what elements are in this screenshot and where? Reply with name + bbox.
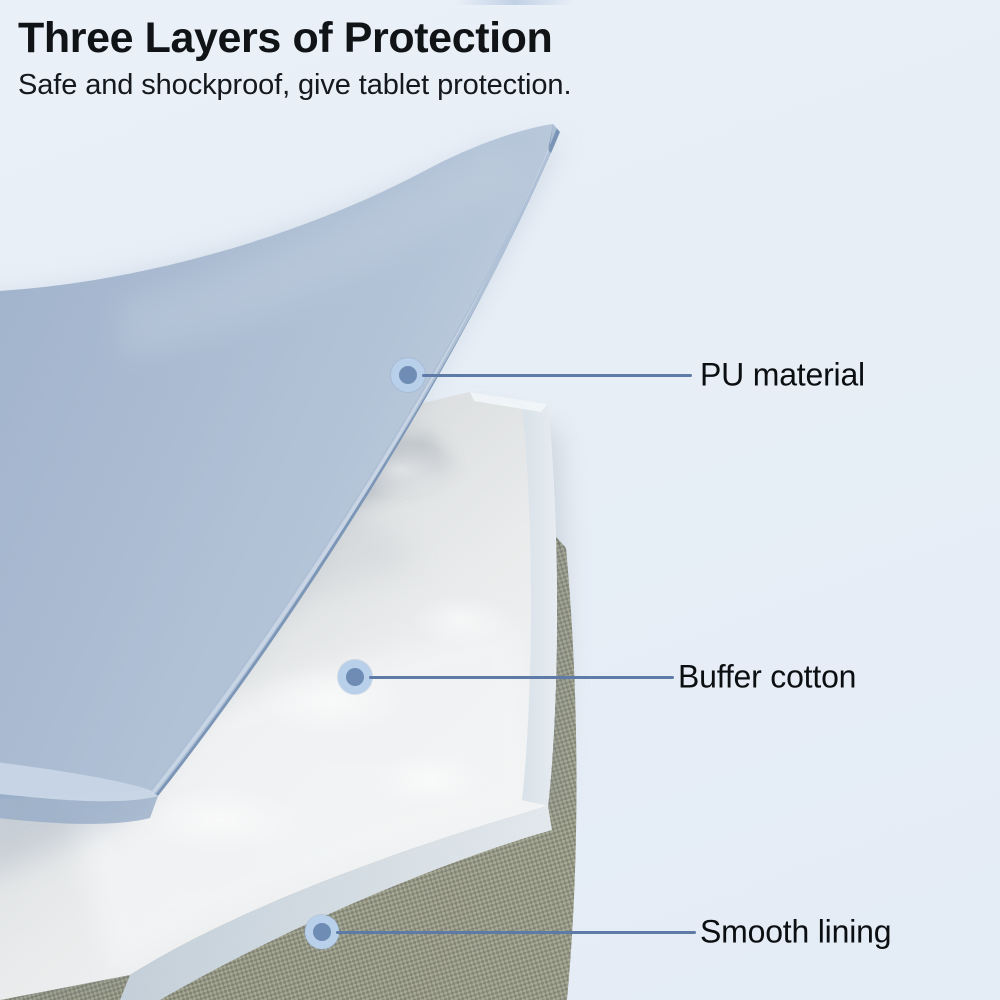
infographic-root: Three Layers of Protection Safe and shoc… — [0, 0, 1000, 1000]
callout-label-buffer-cotton: Buffer cotton — [678, 659, 856, 696]
callout-leader-line — [422, 374, 692, 377]
callout-label-smooth-lining: Smooth lining — [700, 914, 891, 951]
callout-leader-line — [369, 676, 674, 679]
callout-label-pu-material: PU material — [700, 357, 865, 394]
callout-marker-icon[interactable] — [338, 660, 372, 694]
layer-illustration — [0, 0, 1000, 1000]
callout-marker-icon[interactable] — [305, 915, 339, 949]
callout-leader-line — [336, 931, 696, 934]
callout-marker-icon[interactable] — [391, 358, 425, 392]
